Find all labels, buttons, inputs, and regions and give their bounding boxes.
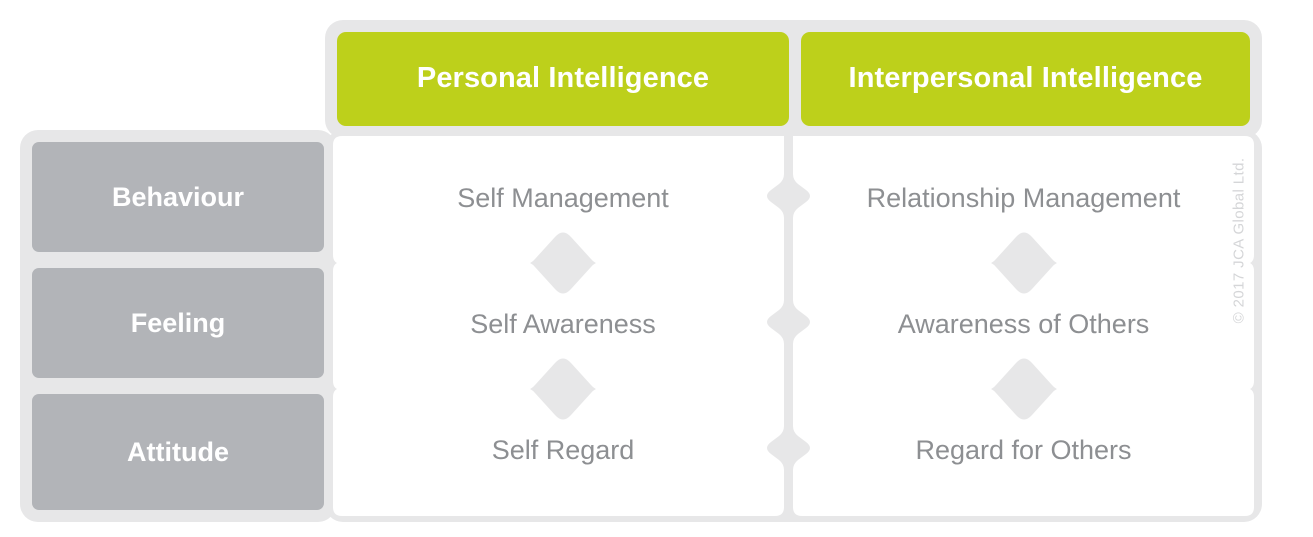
puzzle-tile-shape-icon [793, 136, 1254, 264]
matrix-cell-attitude-interpersonal[interactable]: Regard for Others [793, 388, 1254, 516]
row-label-attitude[interactable]: Attitude [32, 394, 324, 510]
puzzle-tile-shape-icon [793, 262, 1254, 390]
puzzle-tile-shape-icon [333, 136, 793, 264]
copyright-notice: © 2017 JCA Global Ltd. [1231, 121, 1248, 361]
row-label-feeling-text: Feeling [131, 308, 226, 339]
puzzle-tile-shape-icon [333, 262, 793, 390]
column-header-interpersonal[interactable]: Interpersonal Intelligence [801, 32, 1250, 126]
column-header-personal[interactable]: Personal Intelligence [337, 32, 789, 126]
matrix-cell-feeling-personal[interactable]: Self Awareness [333, 262, 793, 390]
puzzle-tile-shape-icon [793, 388, 1254, 516]
matrix-cell-behaviour-interpersonal[interactable]: Relationship Management [793, 136, 1254, 264]
row-label-feeling[interactable]: Feeling [32, 268, 324, 378]
puzzle-tile-shape-icon [333, 388, 793, 516]
matrix-cell-attitude-personal[interactable]: Self Regard [333, 388, 793, 516]
matrix-cell-behaviour-personal[interactable]: Self Management [333, 136, 793, 264]
diagram-canvas: Personal Intelligence Interpersonal Inte… [0, 0, 1313, 537]
row-label-attitude-text: Attitude [127, 437, 229, 468]
row-label-behaviour[interactable]: Behaviour [32, 142, 324, 252]
matrix-cell-feeling-interpersonal[interactable]: Awareness of Others [793, 262, 1254, 390]
column-header-interpersonal-label: Interpersonal Intelligence [849, 63, 1203, 95]
column-header-personal-label: Personal Intelligence [417, 63, 709, 95]
row-label-behaviour-text: Behaviour [112, 182, 244, 213]
